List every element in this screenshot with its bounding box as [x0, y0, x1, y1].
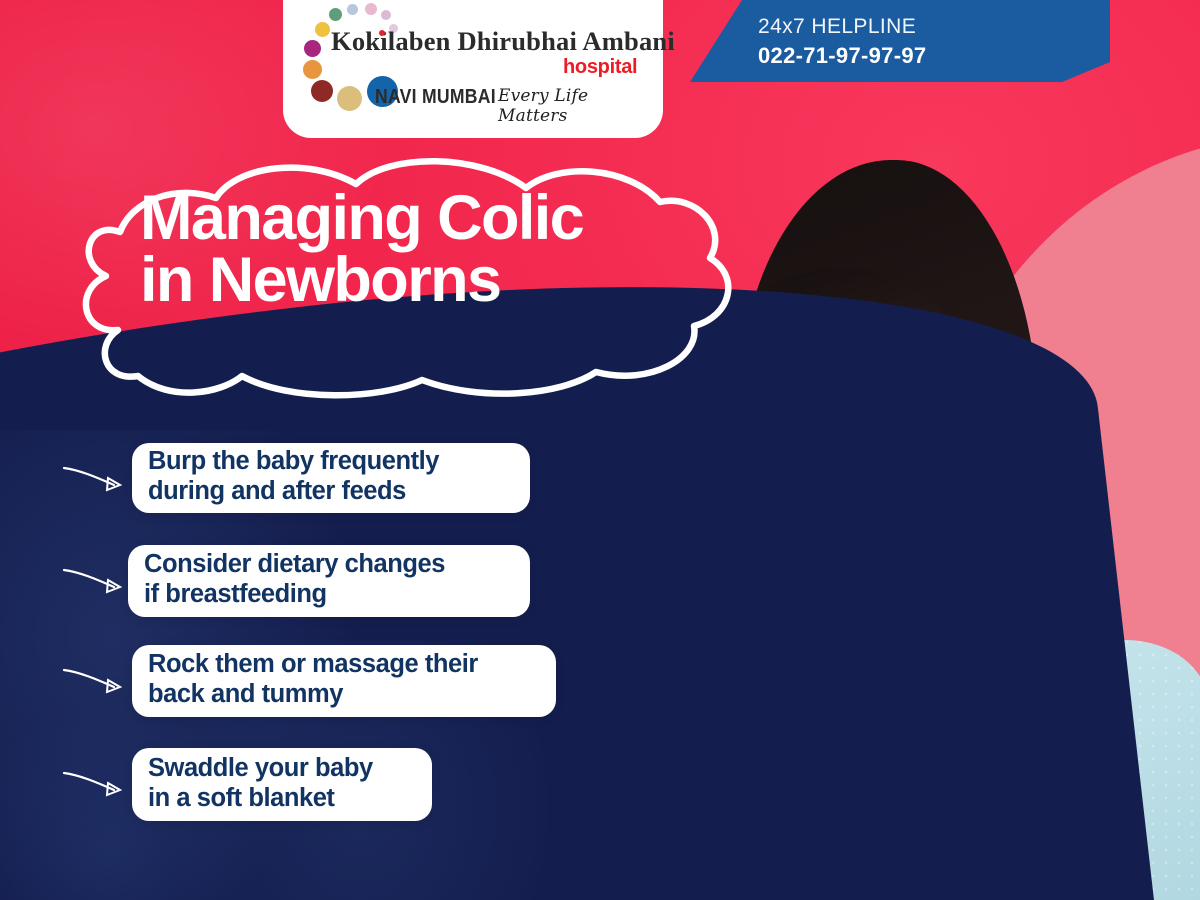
tip-item[interactable]: Rock them or massage their back and tumm… [132, 645, 556, 717]
logo-location: NAVI MUMBAI [375, 86, 496, 109]
arrow-icon [62, 765, 128, 801]
tip-item[interactable]: Swaddle your baby in a soft blanket [132, 748, 432, 821]
tip-item[interactable]: Burp the baby frequently during and afte… [132, 443, 530, 513]
helpline-label: 24x7 HELPLINE [758, 14, 926, 40]
helpline-text-group: 24x7 HELPLINE 022-71-97-97-97 [758, 14, 926, 71]
helpline-number[interactable]: 022-71-97-97-97 [758, 42, 926, 71]
arrow-icon [62, 662, 128, 698]
logo-hospital-word: hospital [563, 56, 637, 79]
tip-line-1: Consider dietary changes [144, 550, 445, 580]
tip-line-2: back and tummy [148, 680, 478, 710]
arrow-icon [62, 562, 128, 598]
logo-inner: Kokilaben Dhirubhai Ambani hospital NAVI… [283, 0, 663, 132]
poster-canvas: 24x7 HELPLINE 022-71-97-97-97 Kokilaben … [0, 0, 1200, 900]
tip-line-2: if breastfeeding [144, 580, 445, 610]
tip-item[interactable]: Consider dietary changes if breastfeedin… [128, 545, 530, 617]
tip-line-2: during and after feeds [148, 477, 439, 507]
tip-line-1: Swaddle your baby [148, 754, 373, 784]
tip-line-1: Rock them or massage their [148, 650, 478, 680]
tip-line-1: Burp the baby frequently [148, 447, 439, 477]
logo-tagline: Every Life Matters [498, 86, 663, 126]
hospital-logo-panel: Kokilaben Dhirubhai Ambani hospital NAVI… [283, 0, 663, 138]
logo-i-dot [379, 30, 385, 36]
tip-line-2: in a soft blanket [148, 784, 373, 814]
arrow-icon [62, 460, 128, 496]
